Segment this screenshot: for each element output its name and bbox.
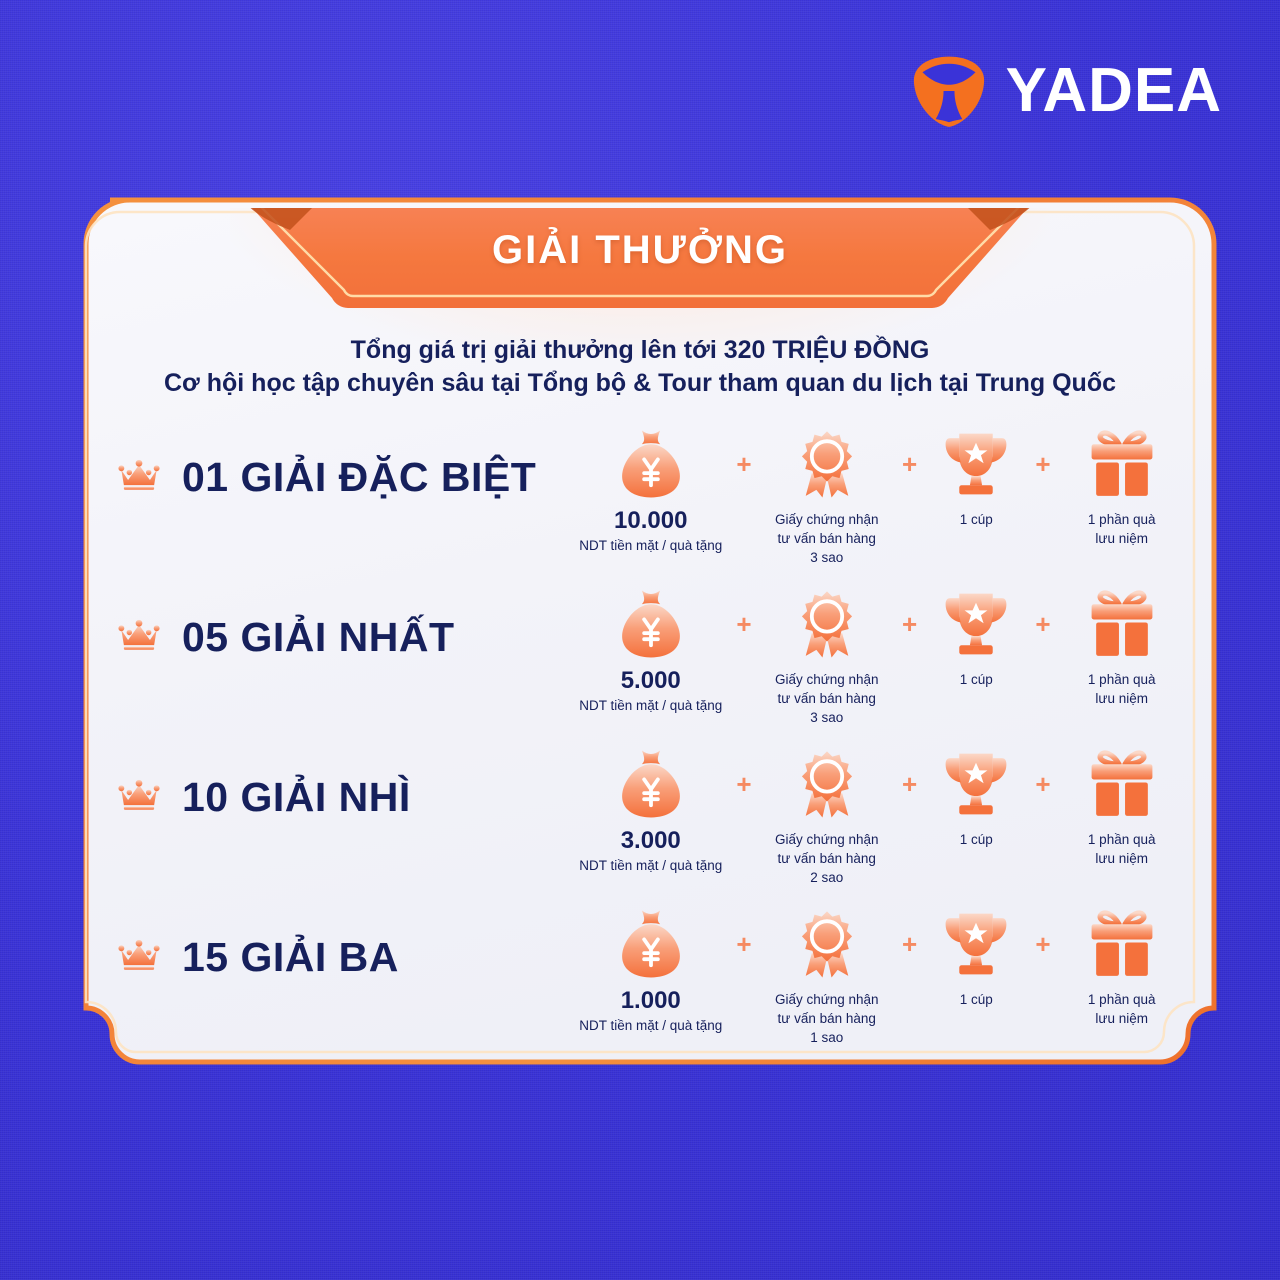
subtitle-line-2: Cơ hội học tập chuyên sâu tại Tổng bộ & … [76, 367, 1204, 400]
yadea-shield-icon [910, 52, 988, 130]
prize-caption: 1 cúp [960, 990, 993, 1009]
prize-item-list: 5.000NDT tiền mặt / quà tặng+ Giấy chứng… [576, 586, 1182, 727]
prize-caption: 1 phần quà lưu niệm [1088, 510, 1156, 548]
prize-item: Giấy chứng nhận tư vấn bán hàng 2 sao [762, 746, 891, 887]
money-bag-icon [613, 426, 689, 502]
crown-icon [118, 458, 160, 497]
prize-item: Giấy chứng nhận tư vấn bán hàng 3 sao [762, 426, 891, 567]
prize-row-title: 10 GIẢI NHÌ [182, 774, 411, 821]
plus-icon: + [891, 906, 928, 982]
prize-row: 10 GIẢI NHÌ 3.000NDT tiền mặt / quà tặng… [76, 746, 1204, 906]
crown-icon [118, 938, 160, 977]
prize-row-heading: 01 GIẢI ĐẶC BIỆT [118, 454, 536, 501]
prize-row-title: 15 GIẢI BA [182, 934, 399, 981]
money-bag-icon [613, 906, 689, 982]
prize-item: Giấy chứng nhận tư vấn bán hàng 3 sao [762, 586, 891, 727]
prize-caption: 1 cúp [960, 830, 993, 849]
gift-box-icon [1084, 746, 1160, 822]
trophy-icon [938, 906, 1014, 982]
prize-caption: Giấy chứng nhận tư vấn bán hàng 1 sao [775, 990, 879, 1047]
prize-item: 1 phần quà lưu niệm [1061, 586, 1182, 708]
gift-box-icon [1084, 426, 1160, 502]
prize-item: 1 cúp [928, 426, 1024, 529]
award-ribbon-icon [789, 746, 865, 822]
prize-caption: NDT tiền mặt / quà tặng [579, 696, 722, 715]
prize-item: Giấy chứng nhận tư vấn bán hàng 1 sao [762, 906, 891, 1047]
money-bag-icon [613, 746, 689, 822]
prize-row-title: 05 GIẢI NHẤT [182, 614, 455, 661]
banner-title: GIẢI THƯỞNG [240, 228, 1040, 273]
trophy-icon [938, 586, 1014, 662]
prize-caption: NDT tiền mặt / quà tặng [579, 1016, 722, 1035]
plus-icon: + [725, 746, 762, 822]
prize-item-list: 3.000NDT tiền mặt / quà tặng+ Giấy chứng… [576, 746, 1182, 887]
prize-row-heading: 10 GIẢI NHÌ [118, 774, 411, 821]
prize-row-heading: 15 GIẢI BA [118, 934, 399, 981]
prize-row-heading: 05 GIẢI NHẤT [118, 614, 455, 661]
prize-item: 1 phần quà lưu niệm [1061, 746, 1182, 868]
prize-card: GIẢI THƯỞNG Tổng giá trị giải thưởng lên… [76, 208, 1204, 1084]
plus-icon: + [1024, 746, 1061, 822]
crown-icon [118, 618, 160, 657]
trophy-icon [938, 426, 1014, 502]
prize-item-list: 10.000NDT tiền mặt / quà tặng+ Giấy chứn… [576, 426, 1182, 567]
prize-caption: Giấy chứng nhận tư vấn bán hàng 3 sao [775, 510, 879, 567]
prize-rows: 01 GIẢI ĐẶC BIỆT 10.000NDT tiền mặt / qu… [76, 426, 1204, 1066]
subtitle: Tổng giá trị giải thưởng lên tới 320 TRI… [76, 334, 1204, 400]
prize-caption: 1 phần quà lưu niệm [1088, 830, 1156, 868]
prize-item: 3.000NDT tiền mặt / quà tặng [576, 746, 725, 876]
prize-amount: 10.000 [614, 508, 687, 534]
prize-caption: NDT tiền mặt / quà tặng [579, 536, 722, 555]
prize-amount: 1.000 [621, 988, 681, 1014]
prize-item: 1 cúp [928, 586, 1024, 689]
gift-box-icon [1084, 586, 1160, 662]
plus-icon: + [891, 426, 928, 502]
prize-caption: Giấy chứng nhận tư vấn bán hàng 3 sao [775, 670, 879, 727]
award-ribbon-icon [789, 586, 865, 662]
award-ribbon-icon [789, 906, 865, 982]
prize-caption: Giấy chứng nhận tư vấn bán hàng 2 sao [775, 830, 879, 887]
prize-amount: 5.000 [621, 668, 681, 694]
prize-item: 1 phần quà lưu niệm [1061, 906, 1182, 1028]
award-ribbon-icon [789, 426, 865, 502]
gift-box-icon [1084, 906, 1160, 982]
prize-amount: 3.000 [621, 828, 681, 854]
prize-item: 10.000NDT tiền mặt / quà tặng [576, 426, 725, 556]
prize-caption: 1 phần quà lưu niệm [1088, 990, 1156, 1028]
prize-caption: 1 cúp [960, 670, 993, 689]
prize-row-title: 01 GIẢI ĐẶC BIỆT [182, 454, 536, 501]
prize-caption: 1 cúp [960, 510, 993, 529]
plus-icon: + [1024, 586, 1061, 662]
prize-item: 1 phần quà lưu niệm [1061, 426, 1182, 548]
plus-icon: + [1024, 426, 1061, 502]
prize-item: 1 cúp [928, 746, 1024, 849]
money-bag-icon [613, 586, 689, 662]
trophy-icon [938, 746, 1014, 822]
prize-row: 15 GIẢI BA 1.000NDT tiền mặt / quà tặng+… [76, 906, 1204, 1066]
prize-caption: NDT tiền mặt / quà tặng [579, 856, 722, 875]
prize-item-list: 1.000NDT tiền mặt / quà tặng+ Giấy chứng… [576, 906, 1182, 1047]
plus-icon: + [1024, 906, 1061, 982]
plus-icon: + [891, 586, 928, 662]
brand-name: YADEA [1006, 60, 1222, 122]
subtitle-line-1: Tổng giá trị giải thưởng lên tới 320 TRI… [76, 334, 1204, 367]
prize-item: 1 cúp [928, 906, 1024, 1009]
prize-item: 5.000NDT tiền mặt / quà tặng [576, 586, 725, 716]
plus-icon: + [891, 746, 928, 822]
plus-icon: + [725, 586, 762, 662]
plus-icon: + [725, 906, 762, 982]
plus-icon: + [725, 426, 762, 502]
prize-row: 01 GIẢI ĐẶC BIỆT 10.000NDT tiền mặt / qu… [76, 426, 1204, 586]
brand-logo: YADEA [910, 52, 1222, 130]
prize-caption: 1 phần quà lưu niệm [1088, 670, 1156, 708]
banner: GIẢI THƯỞNG [240, 208, 1040, 312]
prize-row: 05 GIẢI NHẤT 5.000NDT tiền mặt / quà tặn… [76, 586, 1204, 746]
crown-icon [118, 778, 160, 817]
prize-item: 1.000NDT tiền mặt / quà tặng [576, 906, 725, 1036]
